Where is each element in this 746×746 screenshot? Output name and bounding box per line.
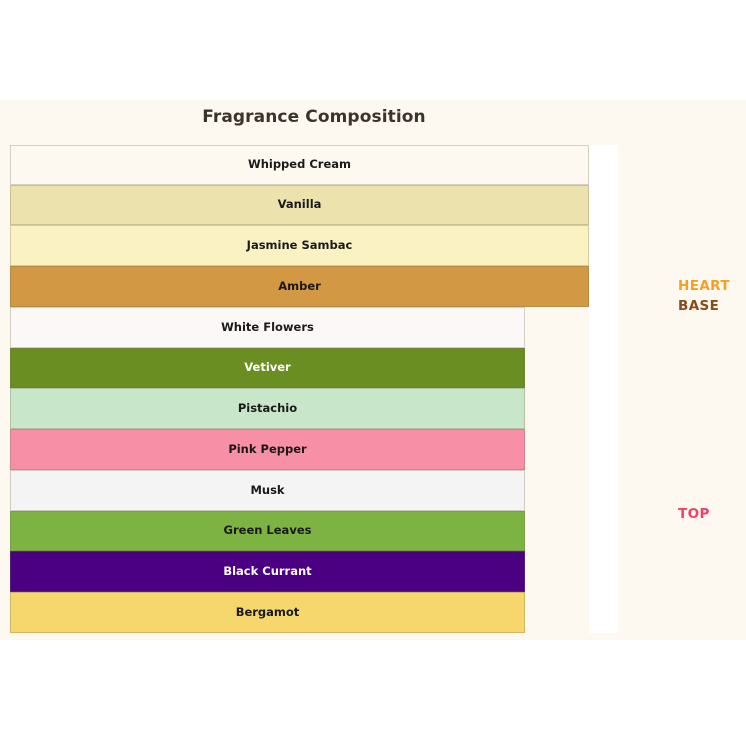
bar-label: Pink Pepper: [228, 444, 306, 456]
bar-amber[interactable]: Amber: [10, 266, 589, 307]
bar-label: Pistachio: [238, 403, 297, 415]
bar-vanilla[interactable]: Vanilla: [10, 185, 589, 225]
fragrance-composition-figure: Fragrance Composition Whipped Cream Vani…: [0, 0, 746, 746]
bar-label: Green Leaves: [224, 525, 312, 537]
bar-bergamot[interactable]: Bergamot: [10, 592, 525, 633]
bar-white-flowers[interactable]: White Flowers: [10, 307, 525, 348]
bar-black-currant[interactable]: Black Currant: [10, 551, 525, 592]
bar-series: Whipped Cream Vanilla Jasmine Sambac Amb…: [0, 0, 746, 746]
bar-label: Vanilla: [278, 199, 322, 211]
bar-label: Jasmine Sambac: [247, 240, 353, 252]
bar-vetiver[interactable]: Vetiver: [10, 348, 525, 388]
bar-musk[interactable]: Musk: [10, 470, 525, 511]
annotation-top: TOP: [678, 506, 710, 522]
bar-label: White Flowers: [221, 322, 314, 334]
bar-label: Amber: [278, 281, 321, 293]
bar-label: Musk: [250, 485, 284, 497]
annotation-heart: HEART: [678, 278, 730, 294]
bar-pink-pepper[interactable]: Pink Pepper: [10, 429, 525, 470]
bar-jasmine-sambac[interactable]: Jasmine Sambac: [10, 225, 589, 266]
bar-label: Vetiver: [244, 362, 290, 374]
bar-green-leaves[interactable]: Green Leaves: [10, 511, 525, 551]
bar-label: Whipped Cream: [248, 159, 351, 171]
annotation-base: BASE: [678, 298, 719, 314]
bar-label: Black Currant: [223, 566, 311, 578]
bar-pistachio[interactable]: Pistachio: [10, 388, 525, 429]
bar-label: Bergamot: [236, 607, 300, 619]
bar-whipped-cream[interactable]: Whipped Cream: [10, 145, 589, 185]
